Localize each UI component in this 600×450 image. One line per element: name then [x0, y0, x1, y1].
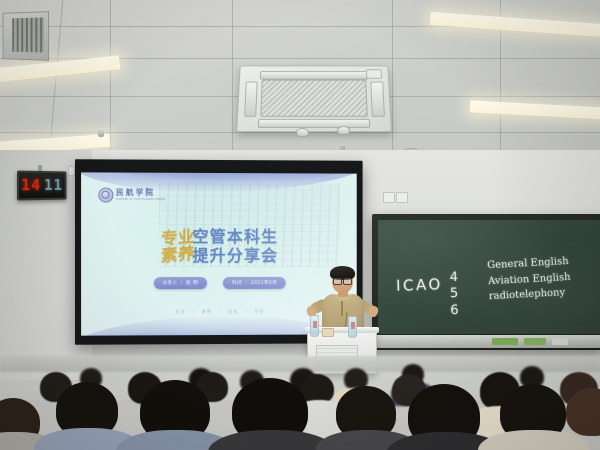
glasses-icon [333, 278, 352, 283]
wall-digital-clock: 14 11 [17, 171, 67, 201]
logo-text-en: College of Civil Aviation NUAA [116, 198, 166, 201]
clock-hours: 14 [21, 178, 41, 193]
wall-outlet [383, 192, 395, 203]
wall-switch[interactable] [68, 166, 75, 176]
cup [322, 328, 334, 337]
tray-item [492, 338, 518, 345]
water-bottle [310, 315, 319, 337]
slide-footer-item: 分享 [254, 309, 264, 315]
chalk-level-4: 4 [450, 270, 459, 286]
chalkboard-frame: ICAO 4 5 6 General English Aviation Engl… [372, 214, 600, 350]
smoke-detector [296, 128, 309, 137]
slide-title-blue-line2: 提升分享会 [192, 247, 278, 266]
wall-outlet [396, 192, 408, 203]
slide-footer-item: 素养 [202, 309, 212, 315]
chalk-tray [374, 335, 600, 348]
university-seal-icon [98, 187, 113, 202]
chalk-level-6: 6 [450, 302, 459, 318]
slide-title-blue: 空管本科生 提升分享会 [192, 228, 278, 266]
ceiling-light-panel [430, 12, 600, 37]
slide-footer-item: 专业 [175, 309, 185, 315]
tray-item [552, 338, 568, 345]
clock-minutes: 11 [44, 178, 63, 193]
water-bottle [348, 316, 357, 338]
slide-logo: 民航学院 College of Civil Aviation NUAA [98, 187, 166, 202]
ceiling [0, 0, 600, 168]
slide-pill-date: 时间 ｜ 2021年6月 [223, 277, 286, 290]
ceiling-air-conditioner [236, 66, 392, 133]
wall-air-conditioner [3, 11, 49, 61]
slide-footer-sep: | [192, 309, 194, 315]
chalk-text-icao: ICAO [396, 275, 443, 295]
slide-title-blue-line1: 空管本科生 [192, 228, 278, 247]
lecture-hall-screenshot: 14 11 民航学院 College of Civil Aviation NUA… [0, 0, 600, 450]
chalk-text-subjects: General English Aviation English radiote… [487, 254, 572, 305]
tray-item [524, 338, 546, 345]
chalk-text-levels: 4 5 6 [450, 270, 459, 319]
slide-footer-sep: | [219, 309, 221, 315]
slide-title-gold-line2: 素养 [161, 246, 195, 265]
ceiling-light-panel [470, 100, 600, 119]
smoke-detector [337, 126, 350, 135]
logo-text-cn: 民航学院 [116, 189, 166, 197]
audience [0, 354, 600, 450]
chalkboard: ICAO 4 5 6 General English Aviation Engl… [378, 220, 600, 334]
chalk-level-5: 5 [450, 286, 459, 302]
slide-pill-presenter: 分享人 ｜ 赵 明 [153, 277, 207, 290]
sprinkler-head [98, 128, 104, 137]
slide-title-gold: 专业 素养 [161, 230, 192, 264]
slide-footer-item: 成长 [228, 309, 238, 315]
slide-title: 专业 素养 空管本科生 提升分享会 [81, 228, 357, 266]
slide-footer-sep: | [245, 309, 247, 315]
presenter-placket [341, 301, 343, 316]
